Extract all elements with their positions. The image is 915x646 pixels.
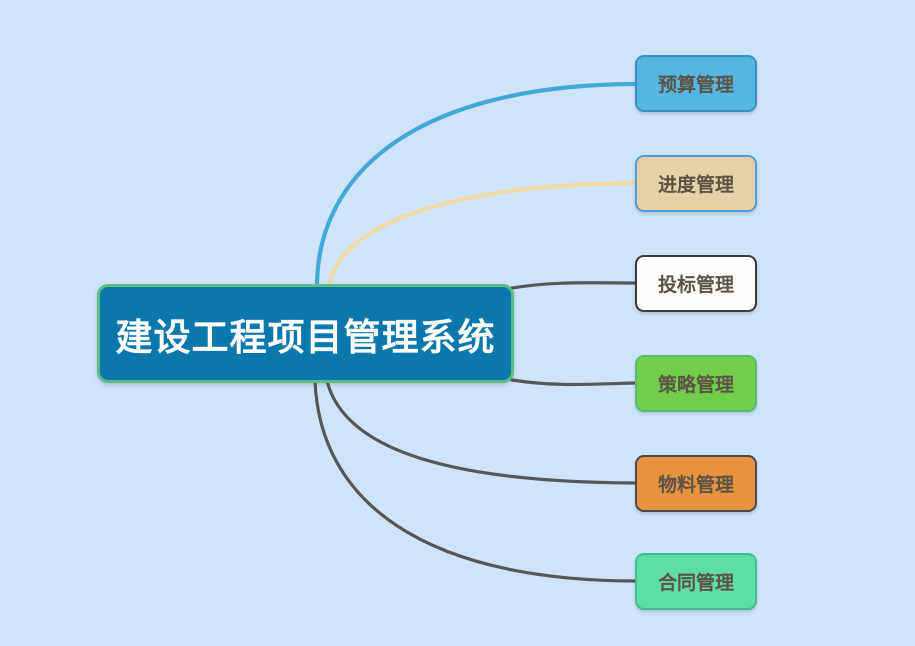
branch-node-material[interactable]: 物料管理 bbox=[635, 455, 757, 512]
connector-to-strategy bbox=[512, 380, 635, 385]
branch-node-budget[interactable]: 预算管理 bbox=[635, 55, 757, 112]
branch-node-strategy[interactable]: 策略管理 bbox=[635, 355, 757, 412]
connector-to-budget bbox=[317, 84, 635, 287]
connector-to-bidding bbox=[512, 283, 635, 288]
branch-node-contract[interactable]: 合同管理 bbox=[635, 553, 757, 610]
connector-to-schedule bbox=[329, 183, 635, 287]
branch-node-bidding[interactable]: 投标管理 bbox=[635, 255, 757, 312]
connector-to-contract bbox=[315, 381, 635, 581]
root-node[interactable]: 建设工程项目管理系统 bbox=[97, 284, 514, 383]
branch-node-schedule[interactable]: 进度管理 bbox=[635, 155, 757, 212]
connector-to-material bbox=[327, 381, 635, 483]
mindmap-canvas: 建设工程项目管理系统 预算管理 进度管理 投标管理 策略管理 物料管理 合同管理 bbox=[0, 0, 915, 646]
